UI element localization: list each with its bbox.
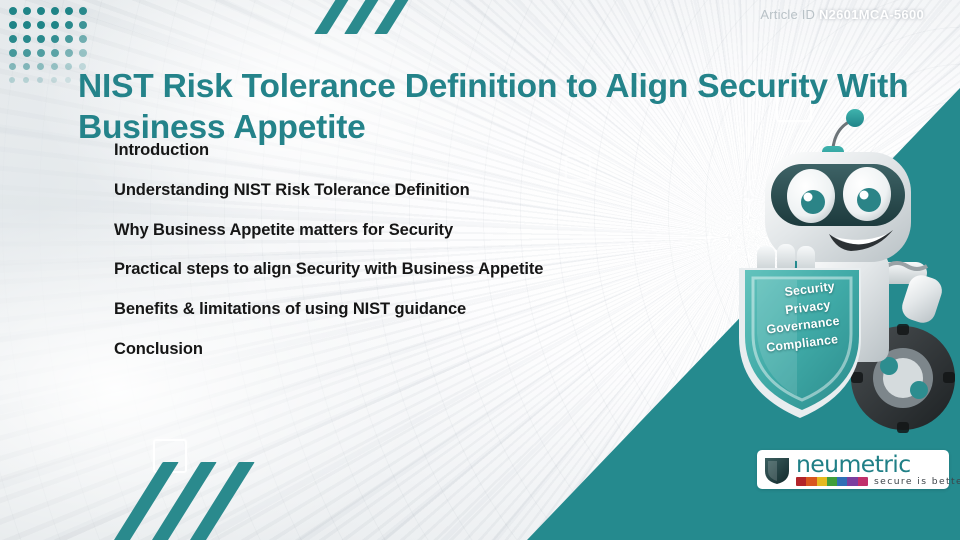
diagonal-stripes-top	[318, 0, 438, 32]
article-id-value: N2601MCA-5600	[819, 7, 924, 22]
table-of-contents: Introduction Understanding NIST Risk Tol…	[114, 140, 714, 379]
logo-shield-icon	[763, 454, 791, 485]
toc-item-business-appetite[interactable]: Why Business Appetite matters for Securi…	[114, 220, 714, 240]
toc-item-understanding[interactable]: Understanding NIST Risk Tolerance Defini…	[114, 180, 714, 200]
logo-tagline: secure is better	[874, 476, 960, 487]
diagonal-stripes-bottom-left	[128, 462, 258, 540]
toc-item-benefits-limitations[interactable]: Benefits & limitations of using NIST gui…	[114, 299, 714, 319]
logo-color-bar	[796, 477, 868, 486]
article-id-label: Article ID	[760, 7, 815, 22]
toc-item-conclusion[interactable]: Conclusion	[114, 339, 714, 359]
article-id: Article ID N2601MCA-5600	[760, 7, 924, 22]
logo-wordmark: neumetric	[796, 453, 960, 475]
security-shield	[739, 268, 861, 418]
toc-item-introduction[interactable]: Introduction	[114, 140, 714, 160]
toc-item-practical-steps[interactable]: Practical steps to align Security with B…	[114, 259, 714, 279]
presentation-slide: Article ID N2601MCA-5600 NIST Risk Toler…	[0, 0, 960, 540]
robot-pupil-right	[857, 188, 881, 212]
robot-pupil-left	[801, 190, 825, 214]
logo-subline: secure is better	[796, 476, 960, 487]
neumetric-logo[interactable]: neumetric secure is better	[757, 450, 949, 489]
robot-mascot: Security Privacy Governance Compliance	[737, 104, 960, 434]
logo-text-group: neumetric secure is better	[796, 453, 960, 487]
robot-mascot-illustration	[737, 104, 960, 434]
robot-antenna-bulb	[846, 109, 864, 127]
